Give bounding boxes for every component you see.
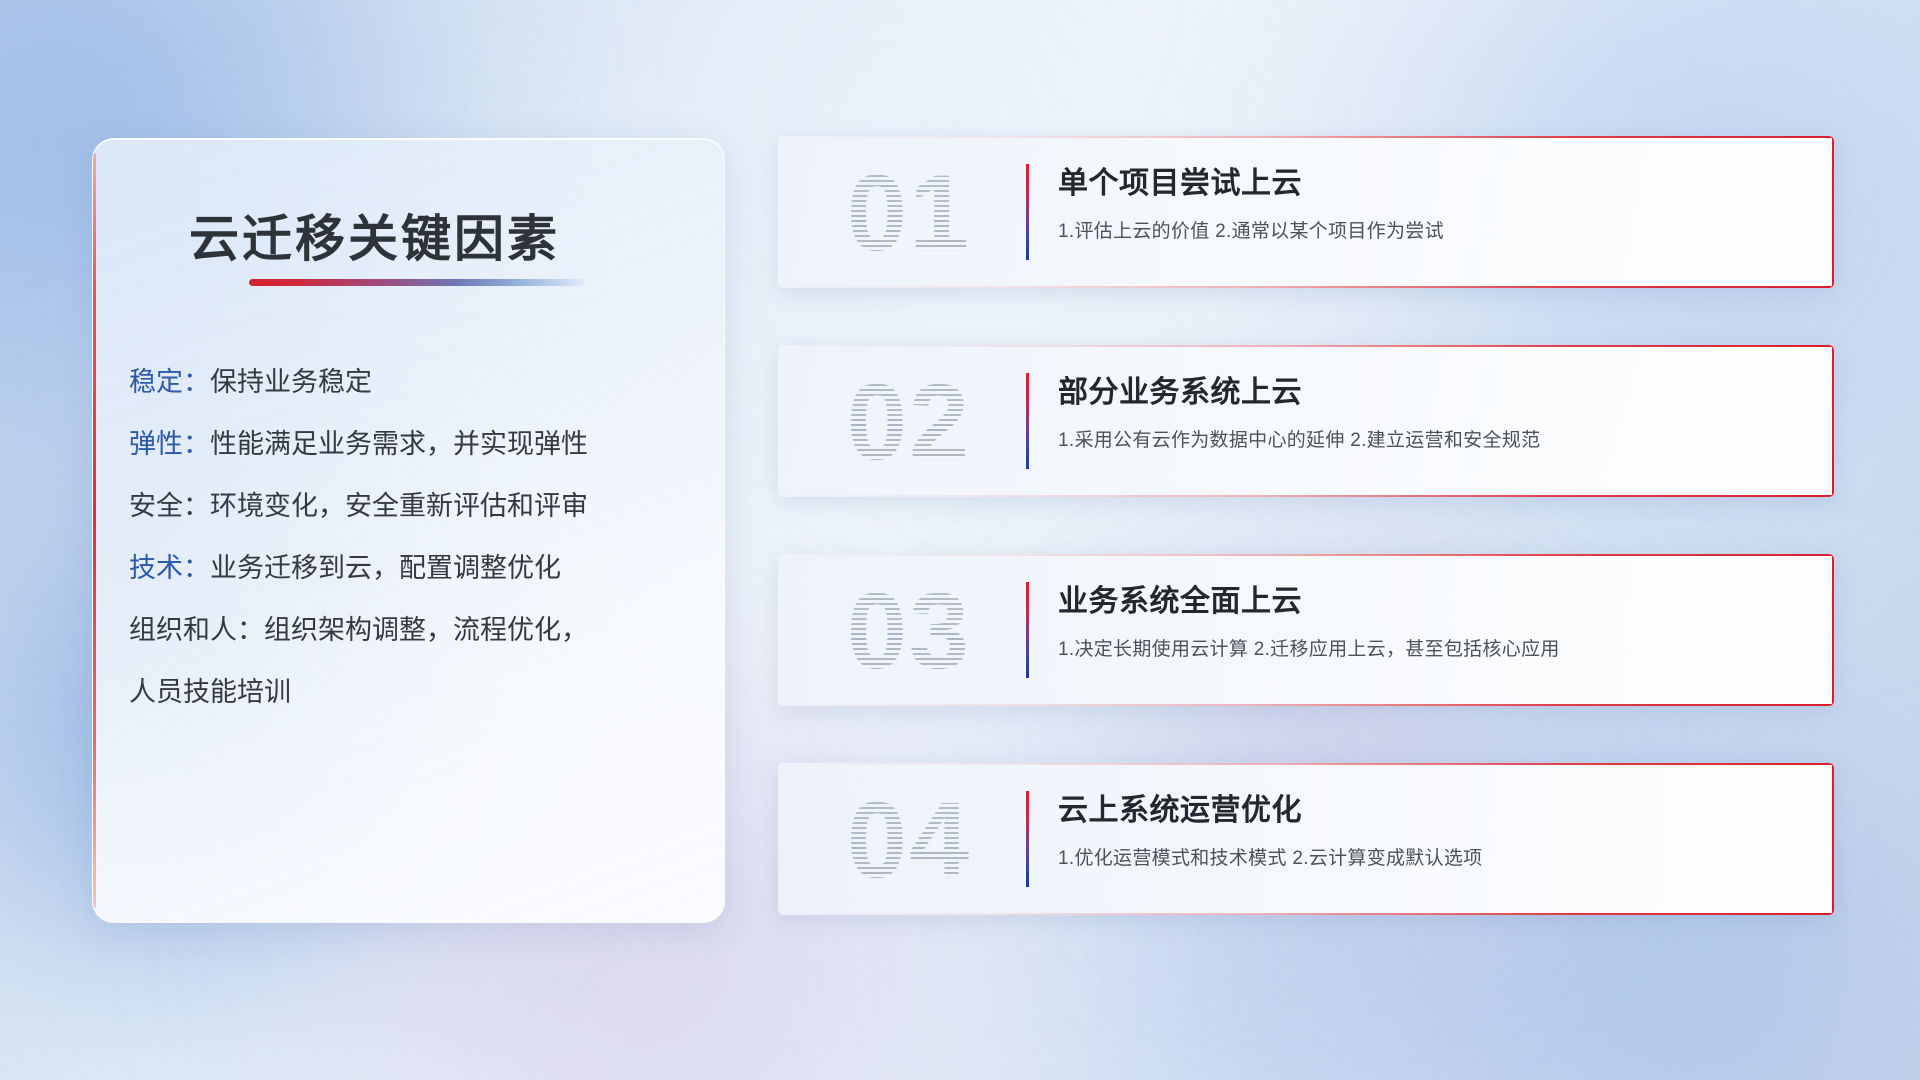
slide-stage: 云迁移关键因素 稳定： 保持业务稳定 弹性： 性能满足业务需求，并实现弹性 安全…: [0, 0, 1920, 1080]
list-item: 技术： 业务迁移到云，配置调整优化: [129, 555, 700, 582]
factor-value: 保持业务稳定: [210, 369, 372, 396]
factor-value: 人员技能培训: [129, 679, 291, 706]
factor-label: 组织和人：: [129, 617, 264, 644]
card-divider-bar: [1026, 373, 1029, 469]
key-factors-panel: 云迁移关键因素 稳定： 保持业务稳定 弹性： 性能满足业务需求，并实现弹性 安全…: [92, 138, 725, 923]
stage-card-04[interactable]: 04 云上系统运营优化 1.优化运营模式和技术模式 2.云计算变成默认选项: [778, 763, 1834, 915]
stage-card-01[interactable]: 01 单个项目尝试上云 1.评估上云的价值 2.通常以某个项目作为尝试: [778, 136, 1834, 288]
factor-label: 稳定：: [129, 369, 210, 396]
stage-title: 单个项目尝试上云: [1058, 158, 1302, 202]
panel-title: 云迁移关键因素: [189, 199, 560, 271]
stage-title: 部分业务系统上云: [1058, 367, 1302, 411]
stage-description: 1.采用公有云作为数据中心的延伸 2.建立运营和安全规范: [1058, 425, 1540, 452]
factor-value: 环境变化，安全重新评估和评审: [210, 493, 588, 520]
stage-description: 1.决定长期使用云计算 2.迁移应用上云，甚至包括核心应用: [1058, 634, 1560, 661]
card-divider-bar: [1026, 164, 1029, 260]
stage-description: 1.优化运营模式和技术模式 2.云计算变成默认选项: [1058, 843, 1482, 870]
list-item: 弹性： 性能满足业务需求，并实现弹性: [129, 431, 700, 458]
list-item: 稳定： 保持业务稳定: [129, 369, 700, 396]
list-item: 安全： 环境变化，安全重新评估和评审: [129, 493, 700, 520]
factor-value: 性能满足业务需求，并实现弹性: [210, 431, 588, 458]
factor-value: 业务迁移到云，配置调整优化: [210, 555, 561, 582]
stage-number-04: 04: [820, 777, 998, 901]
stage-number-02: 02: [820, 359, 998, 483]
card-divider-bar: [1026, 791, 1029, 887]
stage-description: 1.评估上云的价值 2.通常以某个项目作为尝试: [1058, 216, 1444, 243]
list-item: 组织和人： 组织架构调整，流程优化，: [129, 617, 700, 644]
factor-value: 组织架构调整，流程优化，: [264, 617, 588, 644]
factor-label: 技术：: [129, 555, 210, 582]
stage-number-03: 03: [820, 568, 998, 692]
factor-label: 安全：: [129, 493, 210, 520]
stage-title: 业务系统全面上云: [1058, 576, 1302, 620]
stage-card-03[interactable]: 03 业务系统全面上云 1.决定长期使用云计算 2.迁移应用上云，甚至包括核心应…: [778, 554, 1834, 706]
title-underline-accent: [249, 279, 585, 286]
stage-number-01: 01: [820, 150, 998, 274]
list-item: 人员技能培训: [129, 679, 700, 706]
factor-label: 弹性：: [129, 431, 210, 458]
key-factors-list: 稳定： 保持业务稳定 弹性： 性能满足业务需求，并实现弹性 安全： 环境变化，安…: [129, 369, 700, 741]
card-divider-bar: [1026, 582, 1029, 678]
stage-card-02[interactable]: 02 部分业务系统上云 1.采用公有云作为数据中心的延伸 2.建立运营和安全规范: [778, 345, 1834, 497]
stage-title: 云上系统运营优化: [1058, 785, 1302, 829]
